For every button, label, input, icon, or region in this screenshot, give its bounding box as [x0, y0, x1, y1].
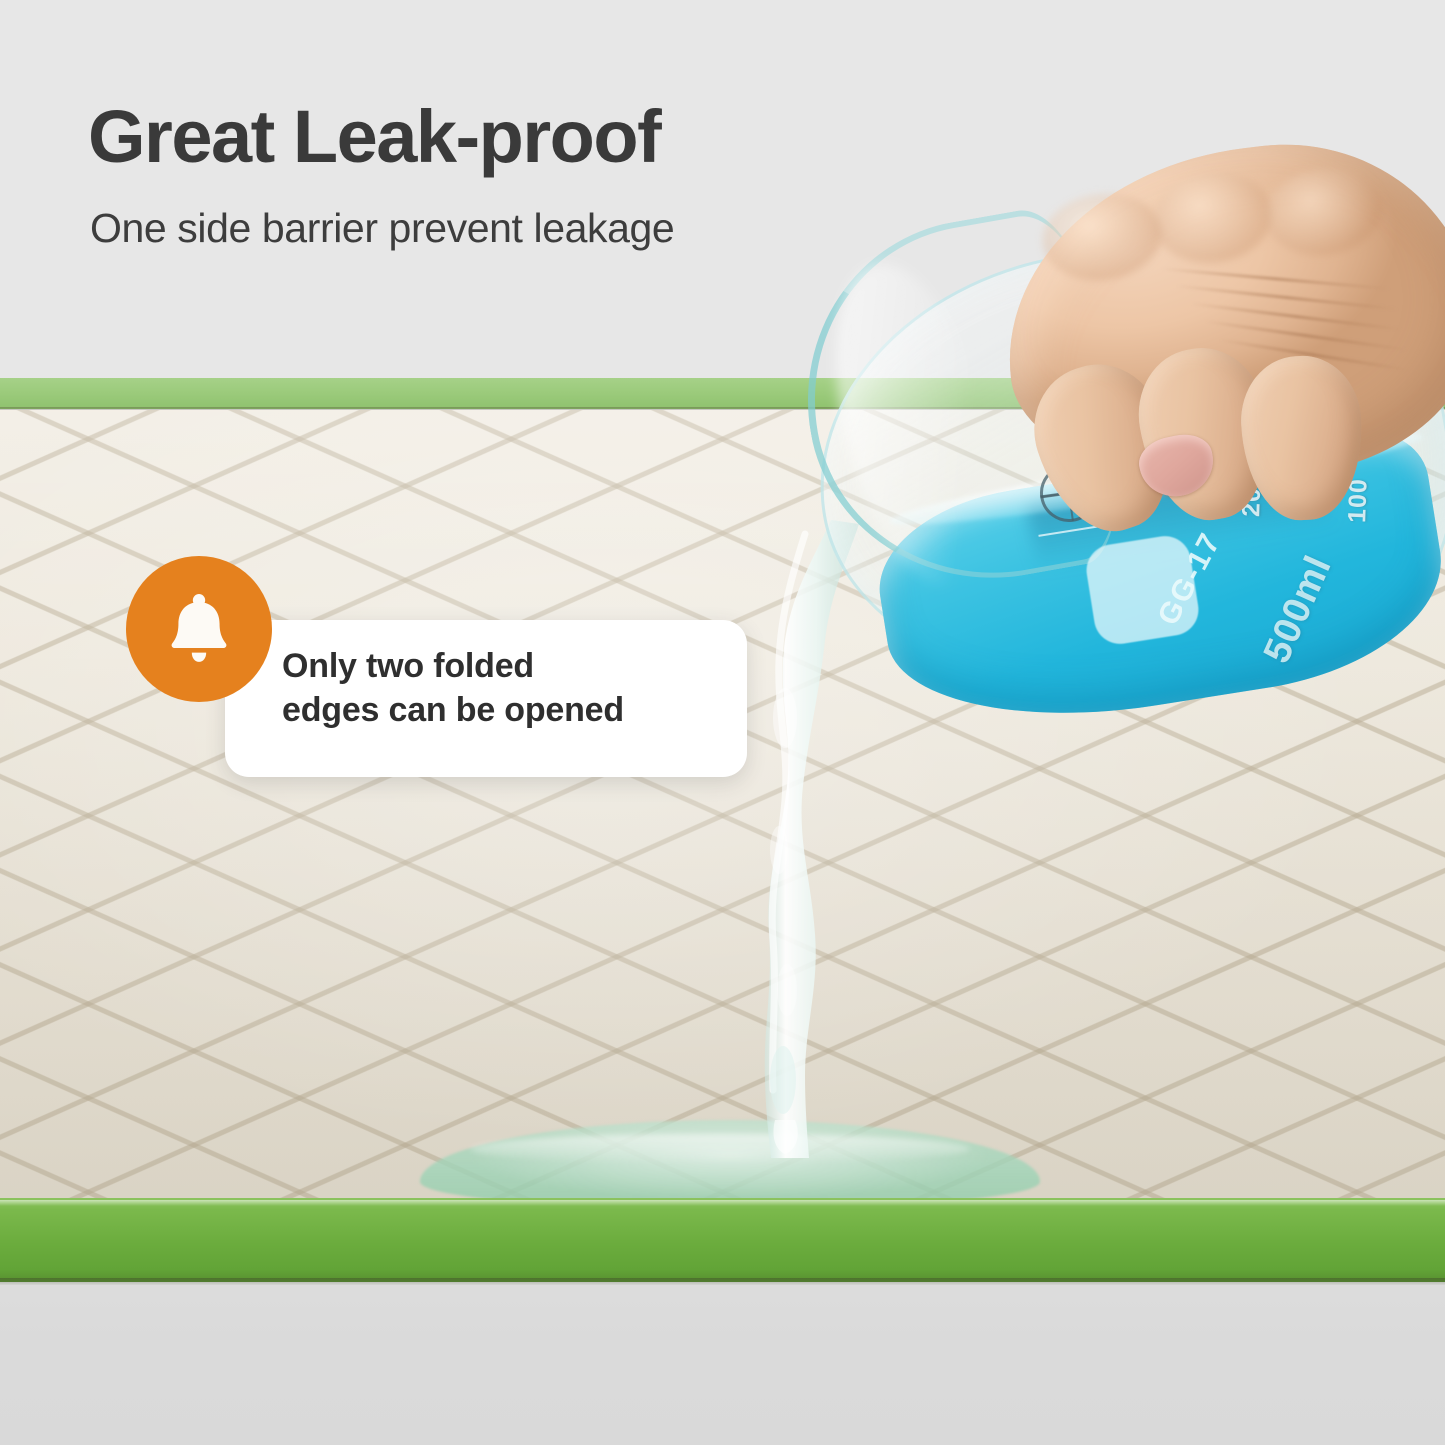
mat-barrier-shadow — [0, 1278, 1445, 1285]
mat-leak-barrier — [0, 1198, 1445, 1282]
page-subtitle: One side barrier prevent leakage — [90, 205, 674, 252]
mat-barrier-highlight — [0, 1200, 1445, 1206]
callout-badge — [126, 556, 272, 702]
banner-stage: Great Leak-proof One side barrier preven… — [0, 0, 1445, 1445]
knuckle — [1038, 187, 1168, 287]
water-puddle-sheen — [470, 1134, 970, 1164]
callout-text-line1: Only two folded — [282, 645, 732, 689]
knuckle — [1148, 166, 1278, 270]
page-title: Great Leak-proof — [88, 98, 660, 176]
beaker-and-hand: 500 APPROX 300 200 100 GG-17 500ml — [790, 150, 1445, 770]
callout-text: Only two folded edges can be opened — [282, 645, 732, 732]
footer-section — [0, 1285, 1445, 1445]
bell-icon — [166, 593, 232, 665]
knuckle — [1260, 162, 1388, 262]
callout-text-line2: edges can be opened — [282, 689, 732, 733]
